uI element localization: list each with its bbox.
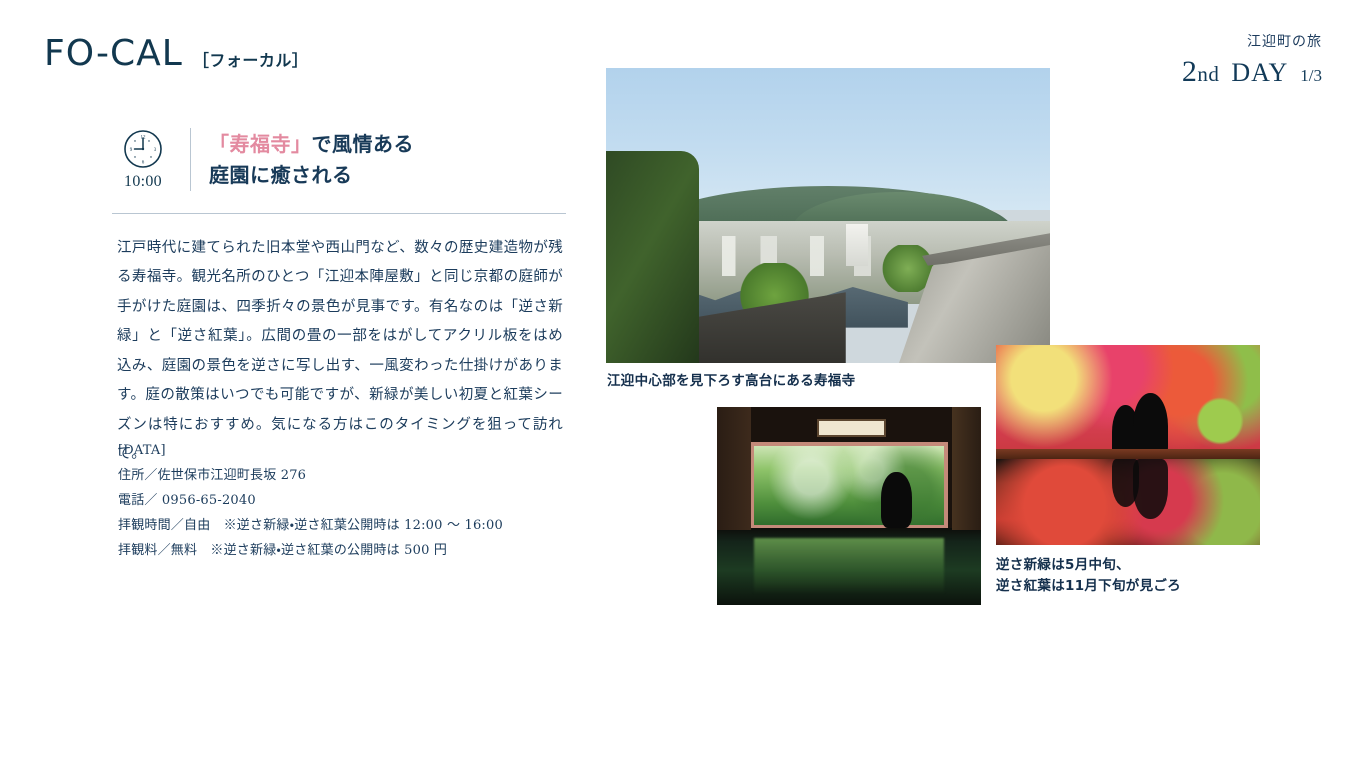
photo-green-garden-reflection <box>717 407 981 605</box>
seated-person-silhouette <box>881 472 913 527</box>
logo-subtitle: ［フォーカル］ <box>193 53 309 72</box>
hedge <box>606 151 699 363</box>
right-pillar <box>952 407 981 530</box>
data-line-phone: 電話／ 0956-65-2040 <box>118 488 503 513</box>
day-word: DAY <box>1231 58 1288 88</box>
data-line-address: 住所／佐世保市江迎町長坂 276 <box>118 463 503 488</box>
clock-icon: 12 3 6 9 <box>122 128 164 170</box>
trip-label: 江迎町の旅 <box>1182 34 1322 51</box>
caption-hero: 江迎中心部を見下ろす高台にある寿福寺 <box>607 371 855 392</box>
header-right: 江迎町の旅 2nd DAY 1/3 <box>1182 34 1322 88</box>
data-heading: [DATA] <box>118 438 503 463</box>
article-column: 12 3 6 9 10:00 「寿福寺」で風情ある 庭園に癒される <box>112 128 568 191</box>
caption-autumn-line1: 逆さ新緑は5月中旬、 <box>996 555 1181 576</box>
green-pine <box>1191 389 1249 453</box>
photo-autumn-maple-reflection <box>996 345 1260 545</box>
data-line-fee: 拝観料／無料 ※逆さ新緑・逆さ紅葉の公開時は 500 円 <box>118 538 503 563</box>
section-divider <box>112 213 566 214</box>
logo-wordmark: FO-CAL <box>44 36 183 72</box>
window-frame <box>750 442 948 529</box>
time-badge: 12 3 6 9 10:00 <box>112 128 174 191</box>
day-indicator: 2nd DAY 1/3 <box>1182 57 1322 88</box>
time-label: 10:00 <box>124 173 162 191</box>
data-block: [DATA] 住所／佐世保市江迎町長坂 276 電話／ 0956-65-2040… <box>118 438 503 563</box>
person-reflection-right <box>1133 459 1167 519</box>
day-ordinal: nd <box>1197 62 1219 86</box>
article-body: 江戸時代に建てられた旧本堂や西山門など、数々の歴史建造物が残る寿福寺。観光名所の… <box>117 234 563 469</box>
section-title-line1: 「寿福寺」で風情ある <box>209 129 414 160</box>
page-root: FO-CAL ［フォーカル］ 江迎町の旅 2nd DAY 1/3 12 3 6 … <box>0 0 1366 768</box>
photo-temple-hilltop-view <box>606 68 1050 363</box>
day-number: 2nd <box>1182 57 1220 87</box>
page-indicator: 1/3 <box>1300 66 1322 86</box>
data-line-hours: 拝観時間／自由 ※逆さ新緑・逆さ紅葉公開時は 12:00 〜 16:00 <box>118 513 503 538</box>
brand-logo: FO-CAL ［フォーカル］ <box>44 36 308 72</box>
title-rest: で風情ある <box>312 132 415 156</box>
white-tower <box>846 224 868 265</box>
caption-autumn: 逆さ新緑は5月中旬、 逆さ紅葉は11月下旬が見ごろ <box>996 555 1181 597</box>
veranda-rail <box>996 449 1260 459</box>
temple-plaque <box>817 419 886 437</box>
heading-divider-vertical <box>190 128 191 191</box>
garden-reflection <box>754 538 944 593</box>
caption-autumn-line2: 逆さ紅葉は11月下旬が見ごろ <box>996 576 1181 597</box>
title-accent: 「寿福寺」 <box>209 132 312 156</box>
section-heading: 12 3 6 9 10:00 「寿福寺」で風情ある 庭園に癒される <box>112 128 568 191</box>
left-pillar <box>717 407 751 530</box>
section-title: 「寿福寺」で風情ある 庭園に癒される <box>209 128 414 191</box>
section-title-line2: 庭園に癒される <box>209 160 414 191</box>
